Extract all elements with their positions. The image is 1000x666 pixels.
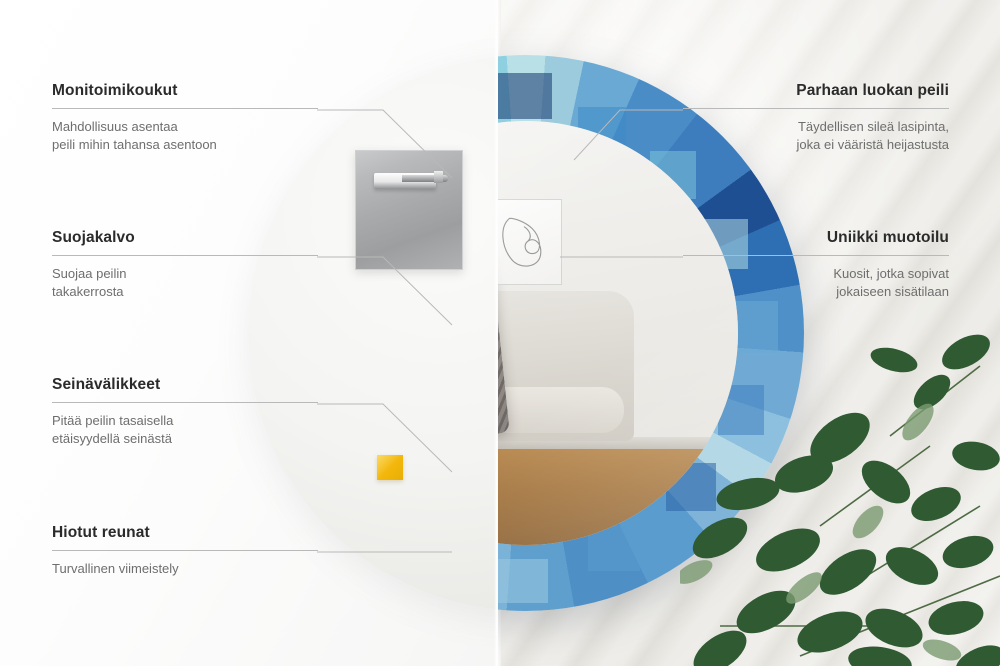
callout-left-3-description: Pitää peilin tasaisella etäisyydellä sei…: [52, 412, 318, 450]
callout-left-2-rule: [52, 255, 318, 256]
callout-left-2: Suojakalvo Suojaa peilin takakerrosta: [52, 229, 318, 302]
callout-right-1-title: Parhaan luokan peili: [683, 82, 949, 101]
callout-left-1-title: Monitoimikoukut: [52, 82, 318, 101]
wall-spacer: [377, 455, 403, 480]
foreground-foliage: [680, 326, 1000, 666]
infographic-stage: Monitoimikoukut Mahdollisuus asentaa pei…: [0, 0, 1000, 666]
callout-left-1-rule: [52, 108, 318, 109]
callout-right-1-description: Täydellisen sileä lasipinta, joka ei vää…: [683, 118, 949, 156]
callout-left-2-description: Suojaa peilin takakerrosta: [52, 265, 318, 303]
callout-right-2-rule: [683, 255, 949, 256]
hook-tip-detail: [434, 171, 443, 183]
callout-right-2-description: Kuosit, jotka sopivat jokaiseen sisätila…: [683, 265, 949, 303]
callout-left-4: Hiotut reunat Turvallinen viimeistely: [52, 524, 318, 578]
callout-left-4-title: Hiotut reunat: [52, 524, 318, 543]
callout-left-4-description: Turvallinen viimeistely: [52, 560, 318, 579]
callout-left-1-description: Mahdollisuus asentaa peili mihin tahansa…: [52, 118, 318, 156]
callout-left-1: Monitoimikoukut Mahdollisuus asentaa pei…: [52, 82, 318, 155]
callout-left-2-title: Suojakalvo: [52, 229, 318, 248]
callout-right-2-title: Uniikki muotoilu: [683, 229, 949, 248]
mounting-bracket: [355, 150, 463, 270]
callout-left-3-title: Seinävälikkeet: [52, 376, 318, 395]
callout-left-3-rule: [52, 402, 318, 403]
callout-right-1-rule: [683, 108, 949, 109]
callout-right-2: Uniikki muotoilu Kuosit, jotka sopivat j…: [683, 229, 949, 302]
callout-left-3: Seinävälikkeet Pitää peilin tasaisella e…: [52, 376, 318, 449]
callout-right-1: Parhaan luokan peili Täydellisen sileä l…: [683, 82, 949, 155]
callout-left-4-rule: [52, 550, 318, 551]
